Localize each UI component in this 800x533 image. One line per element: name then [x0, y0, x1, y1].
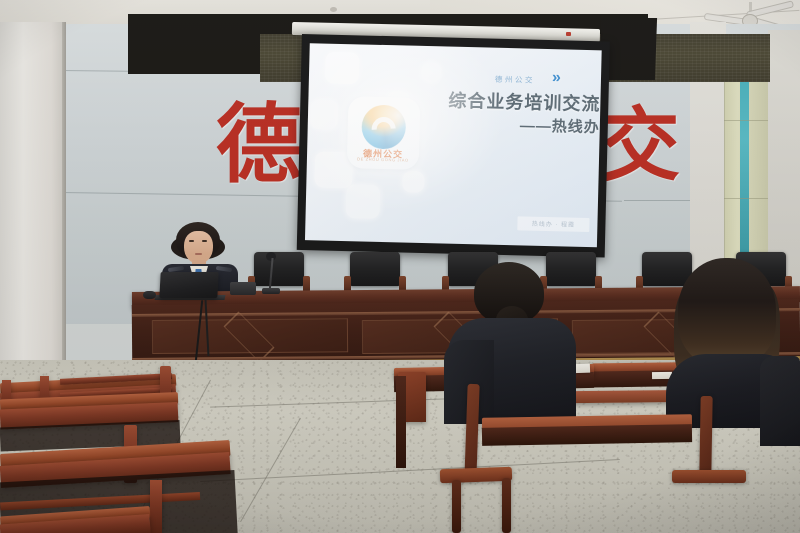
- audience-chair-leg: [502, 478, 511, 533]
- bench-leg: [150, 480, 162, 533]
- slide-surface: 德州公交 DE ZHOU GONG JIAO 德州公交 » 综合业务培训交流 —…: [305, 43, 602, 247]
- attendee-partial-right: [760, 356, 800, 446]
- desk-side-panel: [396, 376, 406, 468]
- presenter-eye: [202, 240, 207, 242]
- chair-back: [254, 252, 304, 286]
- wall-character-de: 德: [216, 102, 302, 188]
- slide-deco-square: [402, 171, 425, 194]
- slide-deco-square: [421, 62, 441, 82]
- chevron-right-icon: »: [552, 69, 558, 87]
- column-band: [724, 198, 770, 199]
- laptop[interactable]: [159, 272, 218, 298]
- attendee-hair: [678, 258, 776, 366]
- slide-deco-square: [310, 99, 339, 130]
- slide-deco-square: [325, 52, 360, 85]
- presenter-eye: [189, 240, 194, 242]
- roller-indicator-dot: [566, 32, 571, 36]
- audience-bench-desk-body: [482, 424, 692, 446]
- dais-chair: [344, 252, 406, 294]
- slide-title: 综合业务培训交流: [448, 87, 599, 117]
- chair-back: [350, 252, 400, 286]
- computer-mouse[interactable]: [143, 291, 156, 299]
- audience-chair-leg: [452, 480, 461, 533]
- projection-screen: 德州公交 DE ZHOU GONG JIAO 德州公交 » 综合业务培训交流 —…: [297, 34, 610, 257]
- control-box[interactable]: [230, 282, 256, 295]
- photo-scene: 德 交 德州公交 DE ZHOU GONG JIAO 德州公交: [0, 0, 800, 533]
- presenter-mouth: [195, 253, 202, 255]
- slide-deco-square: [346, 184, 381, 219]
- microphone-base: [262, 288, 280, 294]
- dezhou-bus-logo: 德州公交 DE ZHOU GONG JIAO: [347, 96, 421, 170]
- audience-chair-back: [699, 396, 712, 476]
- audience-chair-seat: [672, 470, 746, 483]
- ceiling-fixture-dot: [330, 7, 337, 12]
- logo-sub-wordmark: DE ZHOU GONG JIAO: [347, 156, 419, 163]
- slide-credit: 热线办 · 程霞: [519, 218, 587, 229]
- slide-subtitle: ——热线办: [476, 113, 600, 137]
- slide-eyebrow: 德州公交: [495, 74, 535, 86]
- wall-character-jiao: 交: [600, 106, 680, 186]
- left-pillar: [0, 22, 66, 362]
- left-pillar-edge: [62, 22, 66, 362]
- column-band: [724, 120, 770, 121]
